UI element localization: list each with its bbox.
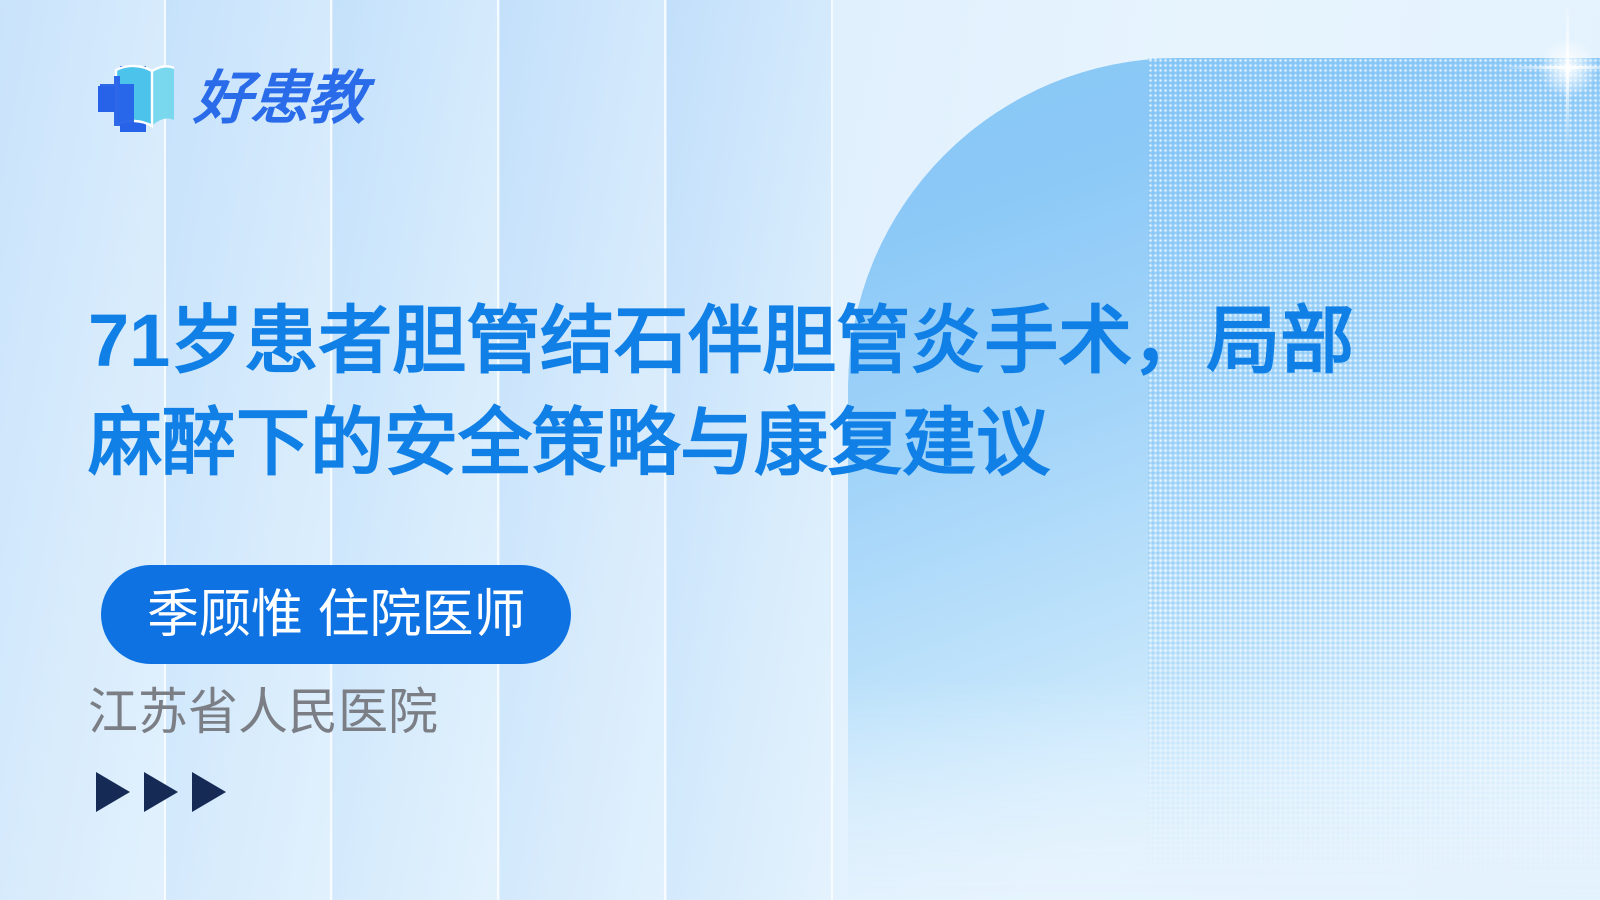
sparkle-ray-vertical	[1566, 0, 1569, 150]
hospital-name: 江苏省人民医院	[88, 680, 438, 745]
play-triangle-icon	[96, 772, 130, 812]
play-triangle-icon	[144, 772, 178, 812]
brand-logo: 好患教	[92, 54, 365, 144]
presenter-badge: 季顾惟 住院医师	[101, 565, 571, 664]
course-cover-slide: 好患教 71岁患者胆管结石伴胆管炎手术，局部 麻醉下的安全策略与康复建议 季顾惟…	[0, 0, 1600, 900]
four-point-star-sparkle-icon	[1498, 0, 1600, 150]
play-triangle-icon	[192, 772, 226, 812]
sparkle-core-glow	[1538, 38, 1598, 98]
page-title-line-1: 71岁患者胆管结石伴胆管炎手术，局部	[88, 290, 1418, 392]
medical-cross-book-icon	[92, 54, 178, 144]
brand-name: 好患教	[192, 70, 366, 128]
play-arrows-decoration	[96, 772, 226, 812]
page-title-line-2: 麻醉下的安全策略与康复建议	[88, 392, 1418, 494]
page-title: 71岁患者胆管结石伴胆管炎手术，局部 麻醉下的安全策略与康复建议	[88, 290, 1418, 494]
sparkle-ray-horizontal	[1498, 66, 1600, 69]
